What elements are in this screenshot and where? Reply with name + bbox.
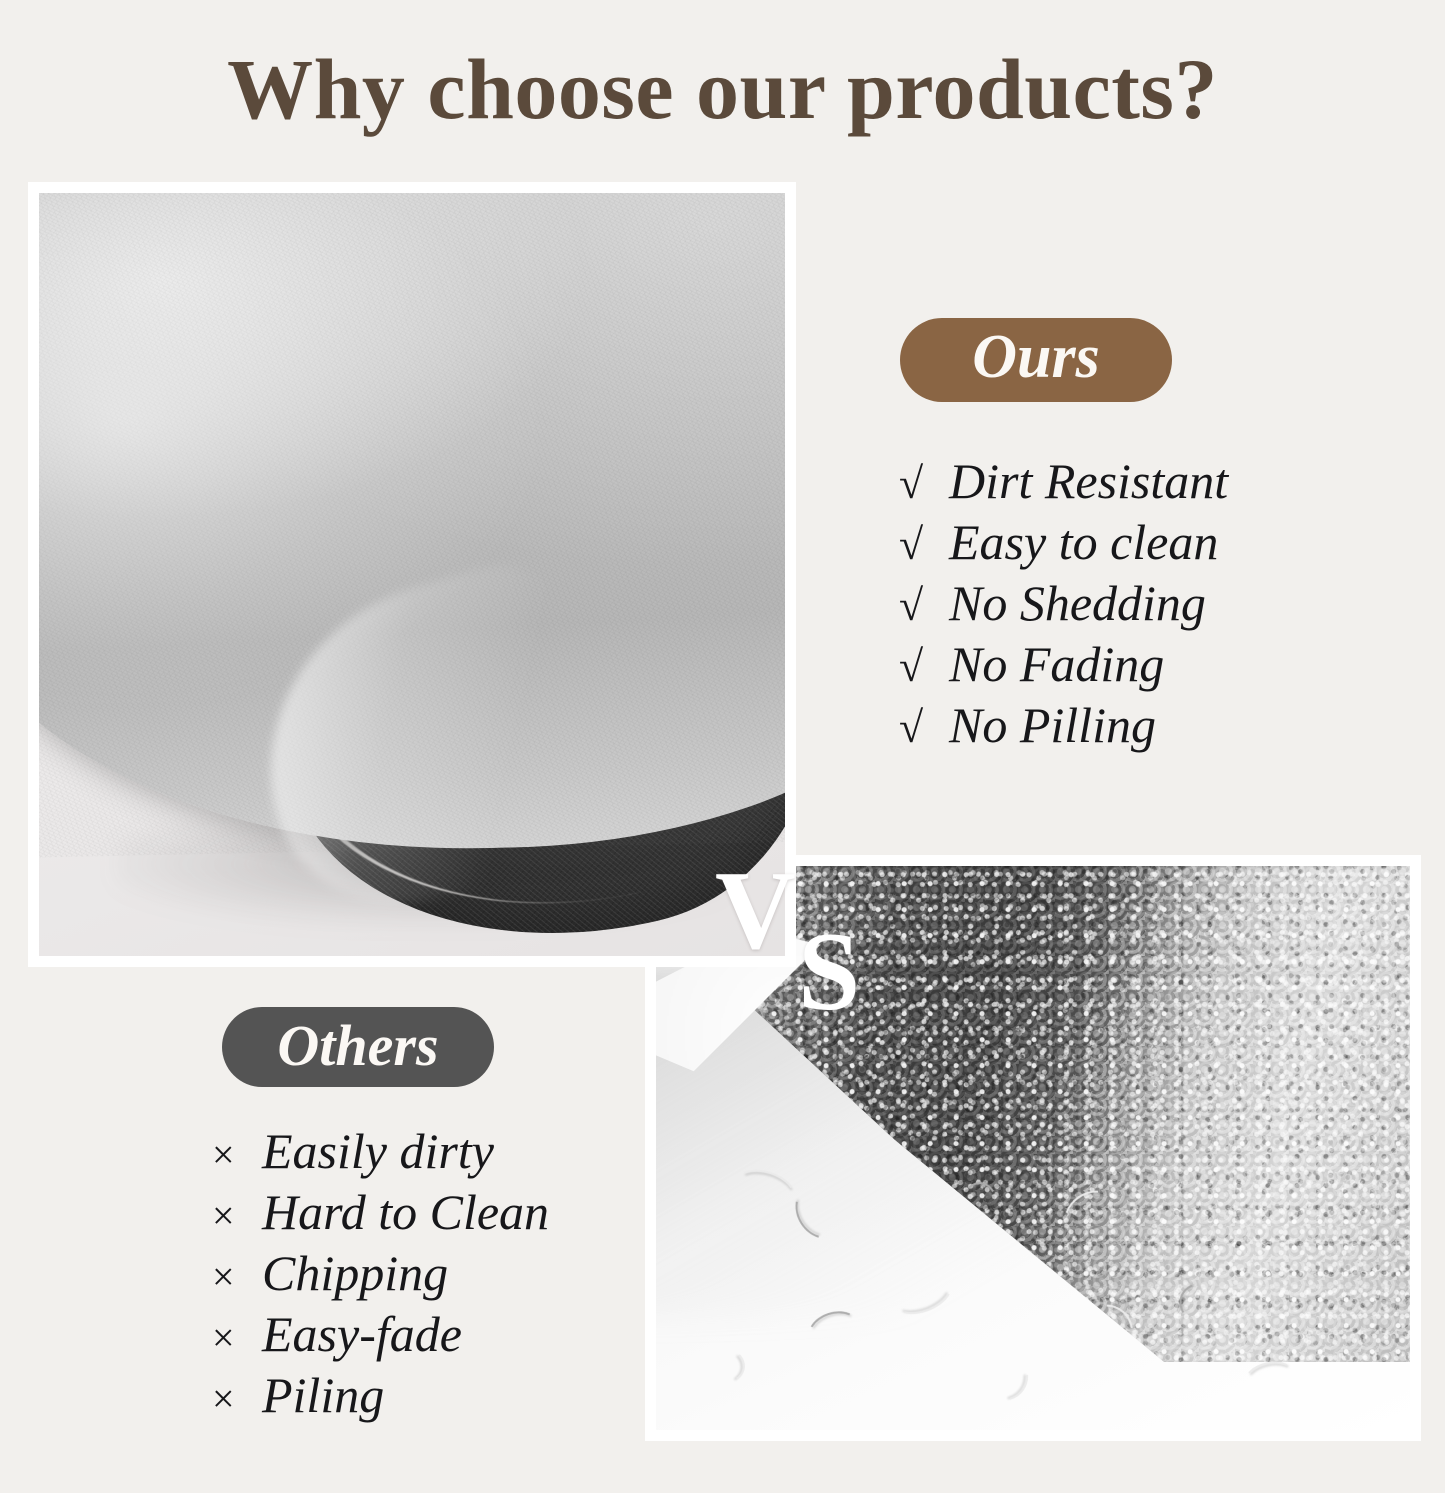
shed-thread [982, 1353, 1036, 1408]
others-feature-label: Piling [262, 1365, 384, 1426]
others-badge: Others [222, 1007, 494, 1087]
ours-feature-list: √ Dirt Resistant √ Easy to clean √ No Sh… [899, 451, 1228, 756]
check-icon: √ [899, 518, 949, 572]
ours-feature-label: No Shedding [949, 573, 1206, 634]
vs-letter-s: S [798, 916, 860, 1028]
others-feature-label: Chipping [262, 1243, 448, 1304]
list-item: × Piling [212, 1365, 549, 1426]
ours-feature-label: Easy to clean [949, 512, 1218, 573]
ours-product-photo [28, 182, 796, 967]
others-feature-label: Easy-fade [262, 1304, 462, 1365]
cross-icon: × [212, 1314, 262, 1363]
list-item: √ No Pilling [899, 695, 1228, 756]
list-item: √ No Shedding [899, 573, 1228, 634]
ours-feature-label: No Pilling [949, 695, 1156, 756]
ours-badge: Ours [900, 318, 1172, 402]
list-item: √ Easy to clean [899, 512, 1228, 573]
page-title: Why choose our products? [0, 46, 1445, 132]
list-item: × Easy-fade [212, 1304, 549, 1365]
check-icon: √ [899, 701, 949, 755]
infographic-root: Why choose our products? [0, 0, 1445, 1493]
shed-thread [693, 1343, 747, 1386]
list-item: √ Dirt Resistant [899, 451, 1228, 512]
ours-photo-inner [39, 193, 785, 956]
cross-icon: × [212, 1375, 262, 1424]
vs-letter-v: V [715, 855, 796, 967]
list-item: × Hard to Clean [212, 1182, 549, 1243]
check-icon: √ [899, 579, 949, 633]
ours-feature-label: No Fading [949, 634, 1164, 695]
list-item: √ No Fading [899, 634, 1228, 695]
shed-thread [1241, 1357, 1299, 1401]
ours-feature-label: Dirt Resistant [949, 451, 1228, 512]
others-feature-list: × Easily dirty × Hard to Clean × Chippin… [212, 1121, 549, 1426]
cross-icon: × [212, 1131, 262, 1180]
cross-icon: × [212, 1192, 262, 1241]
others-feature-label: Easily dirty [262, 1121, 494, 1182]
list-item: × Chipping [212, 1243, 549, 1304]
others-feature-label: Hard to Clean [262, 1182, 549, 1243]
list-item: × Easily dirty [212, 1121, 549, 1182]
check-icon: √ [899, 640, 949, 694]
cross-icon: × [212, 1253, 262, 1302]
mat-scene [39, 193, 785, 956]
check-icon: √ [899, 457, 949, 511]
